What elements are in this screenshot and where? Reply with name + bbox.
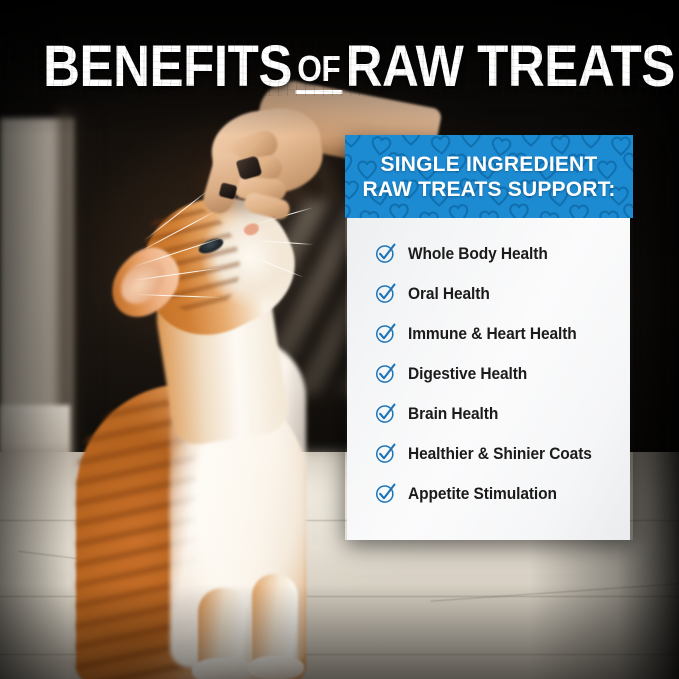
- benefit-label: Oral Health: [408, 285, 490, 303]
- cat-illustration: [70, 188, 330, 679]
- benefit-label: Digestive Health: [408, 365, 527, 383]
- check-circle-icon: [375, 443, 396, 464]
- title-word-of: OF: [295, 48, 342, 94]
- check-circle-icon: [375, 403, 396, 424]
- title-word-benefits: BENEFITS: [43, 34, 292, 99]
- check-circle-icon: [375, 243, 396, 264]
- benefit-label: Healthier & Shinier Coats: [408, 445, 592, 463]
- poster-title: BENEFITSOFRAW TREATS: [0, 38, 679, 96]
- check-circle-icon: [375, 483, 396, 504]
- check-circle-icon: [375, 283, 396, 304]
- title-word-raw-treats: RAW TREATS: [346, 34, 675, 99]
- benefit-label: Appetite Stimulation: [408, 485, 557, 503]
- benefit-item[interactable]: Digestive Health: [347, 354, 630, 394]
- cat-front-paw: [192, 658, 254, 679]
- card-header-title: SINGLE INGREDIENT RAW TREATS SUPPORT:: [359, 152, 619, 202]
- benefits-card: SINGLE INGREDIENT RAW TREATS SUPPORT: Wh…: [345, 135, 633, 540]
- poster-title-text: BENEFITSOFRAW TREATS: [43, 38, 675, 96]
- benefit-item[interactable]: Appetite Stimulation: [347, 474, 630, 514]
- card-header: SINGLE INGREDIENT RAW TREATS SUPPORT:: [345, 135, 633, 218]
- check-circle-icon: [375, 363, 396, 384]
- cat-back-paw: [248, 656, 304, 679]
- benefit-item[interactable]: Brain Health: [347, 394, 630, 434]
- check-circle-icon: [375, 323, 396, 344]
- benefits-list: Whole Body Health Oral Health Immune & H…: [347, 218, 630, 540]
- benefit-item[interactable]: Oral Health: [347, 274, 630, 314]
- benefit-item[interactable]: Healthier & Shinier Coats: [347, 434, 630, 474]
- benefit-label: Immune & Heart Health: [408, 325, 577, 343]
- benefit-item[interactable]: Whole Body Health: [347, 234, 630, 274]
- benefit-label: Brain Health: [408, 405, 498, 423]
- benefits-poster: BENEFITSOFRAW TREATS: [0, 0, 679, 679]
- benefit-label: Whole Body Health: [408, 245, 548, 263]
- benefit-item[interactable]: Immune & Heart Health: [347, 314, 630, 354]
